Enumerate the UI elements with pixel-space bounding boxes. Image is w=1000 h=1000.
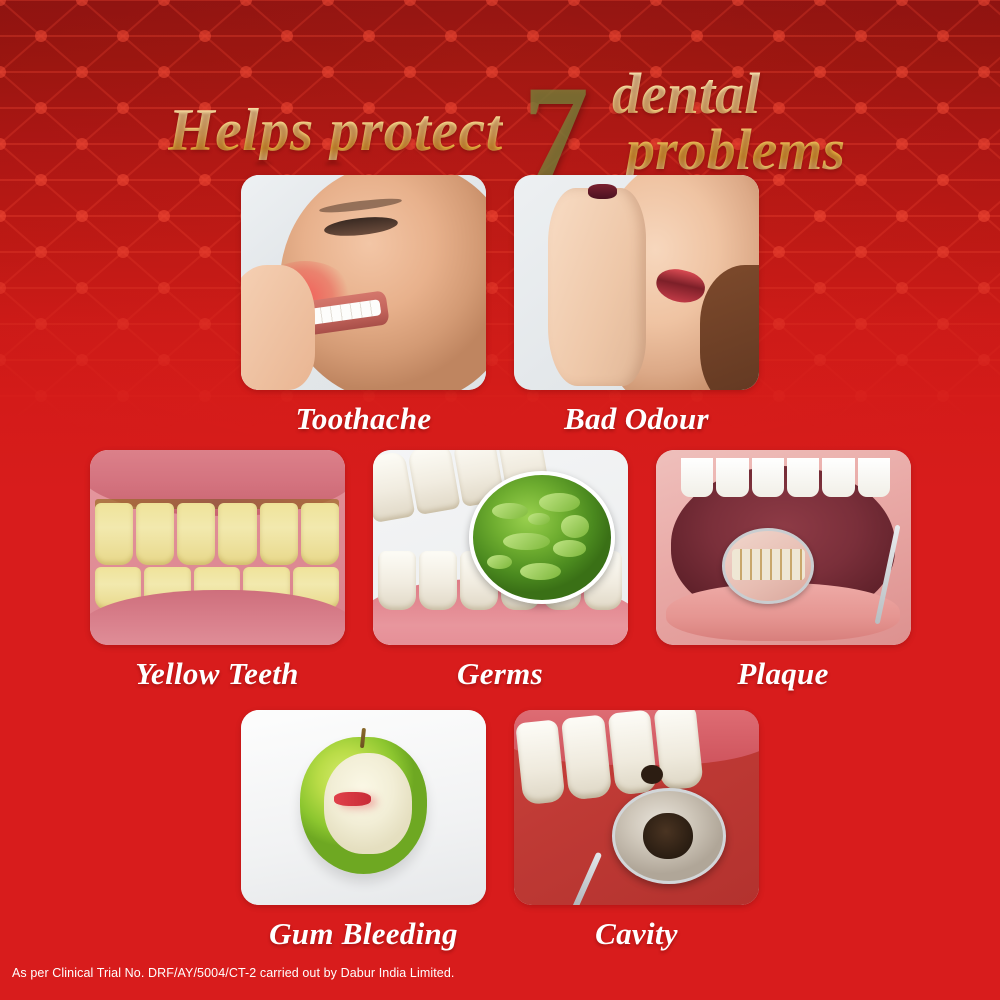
caption-toothache: Toothache: [296, 402, 432, 436]
problem-row-1: Toothache Bad Odour: [0, 175, 1000, 436]
toothache-photo: [241, 175, 486, 390]
clinical-trial-disclaimer: As per Clinical Trial No. DRF/AY/5004/CT…: [12, 966, 454, 980]
germs-magnifier-circle: [469, 471, 615, 604]
caption-plaque: Plaque: [737, 657, 828, 691]
germs-photo: [373, 450, 628, 645]
headline-lead-text: Helps protect: [168, 100, 503, 160]
caption-gum-bleeding: Gum Bleeding: [269, 917, 458, 951]
gum-bleeding-photo: [241, 710, 486, 905]
cavity-photo: [514, 710, 759, 905]
dental-problems-poster: Helps protect 7 dental problems Toothach…: [0, 0, 1000, 1000]
yellow-teeth-illustration: [90, 450, 345, 645]
problem-cell-cavity: Cavity: [514, 710, 759, 951]
caption-yellow-teeth: Yellow Teeth: [135, 657, 298, 691]
bad-odour-illustration: [514, 175, 759, 390]
caption-germs: Germs: [457, 657, 543, 691]
cavity-illustration: [514, 710, 759, 905]
problem-row-2: Yellow Teeth: [0, 450, 1000, 691]
headline: Helps protect 7 dental problems: [0, 42, 1000, 172]
yellow-teeth-photo: [90, 450, 345, 645]
dental-mirror-icon: [722, 528, 815, 604]
problem-row-3: Gum Bleeding Cavity: [0, 710, 1000, 951]
problem-cell-bad-odour: Bad Odour: [514, 175, 759, 436]
problem-cell-toothache: Toothache: [241, 175, 486, 436]
dental-mirror-icon: [612, 788, 726, 884]
caption-bad-odour: Bad Odour: [564, 402, 709, 436]
caption-cavity: Cavity: [595, 917, 678, 951]
problem-cell-plaque: Plaque: [656, 450, 911, 691]
headline-line-problems: problems: [626, 122, 992, 178]
germs-illustration: [373, 450, 628, 645]
problem-cell-gum-bleeding: Gum Bleeding: [241, 710, 486, 951]
headline-line-dental: dental: [612, 66, 992, 122]
problem-cell-germs: Germs: [373, 450, 628, 691]
mirror-handle: [569, 852, 601, 905]
headline-subject-text: dental problems: [612, 66, 992, 177]
toothache-illustration: [241, 175, 486, 390]
bad-odour-photo: [514, 175, 759, 390]
problem-cell-yellow-teeth: Yellow Teeth: [90, 450, 345, 691]
gum-bleeding-illustration: [241, 710, 486, 905]
plaque-photo: [656, 450, 911, 645]
plaque-illustration: [656, 450, 911, 645]
